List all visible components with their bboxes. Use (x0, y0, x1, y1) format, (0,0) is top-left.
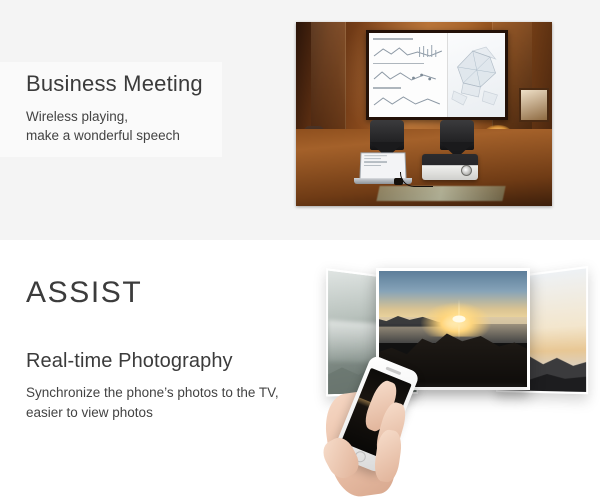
business-meeting-title: Business Meeting (26, 70, 222, 98)
wall-picture-frame (519, 88, 549, 122)
tv-curve-chart (373, 92, 444, 110)
conference-chair (370, 120, 404, 150)
photo-gallery-graphic (312, 248, 600, 500)
tv-text-line (373, 87, 401, 89)
tv-text-line (373, 38, 413, 40)
sun-disc (452, 315, 465, 322)
tv-text-line (373, 63, 424, 65)
conference-chair (440, 120, 474, 150)
tv-slide-diagrams (369, 33, 448, 117)
business-meeting-subtitle-line-2: make a wonderful speech (26, 128, 180, 143)
marketing-page: Business Meeting Wireless playing, make … (0, 0, 600, 500)
laptop-screen-line (364, 165, 381, 166)
wireless-projector-device (422, 154, 478, 180)
business-meeting-text-block: Business Meeting Wireless playing, make … (0, 62, 222, 157)
laptop-screen-line (364, 155, 386, 156)
tv-curve-chart (373, 67, 444, 85)
real-time-photography-body: Synchronize the phone’s photos to the TV… (26, 383, 279, 422)
assist-body-line-1: Synchronize the phone’s photos to the TV… (26, 385, 279, 400)
table-runner (376, 186, 505, 201)
wall-mounted-tv (366, 30, 508, 120)
cable-plug (394, 178, 403, 185)
conference-room-photo (296, 22, 552, 206)
section-assist: ASSIST Real-time Photography Synchronize… (0, 240, 600, 500)
tv-3d-render (448, 33, 505, 117)
section-business-meeting: Business Meeting Wireless playing, make … (0, 0, 600, 240)
assist-body-line-2: easier to view photos (26, 405, 153, 420)
laptop-screen-line (364, 158, 381, 159)
business-meeting-subtitle: Wireless playing, make a wonderful speec… (26, 107, 222, 145)
real-time-photography-title: Real-time Photography (26, 350, 233, 373)
hand-holding-phone (324, 352, 436, 500)
projector-lens (461, 165, 472, 176)
laptop-screen-line (364, 161, 387, 162)
phone-earpiece (386, 366, 402, 374)
assist-heading: ASSIST (26, 276, 142, 310)
business-meeting-subtitle-line-1: Wireless playing, (26, 109, 128, 124)
tv-curve-chart (373, 43, 444, 61)
